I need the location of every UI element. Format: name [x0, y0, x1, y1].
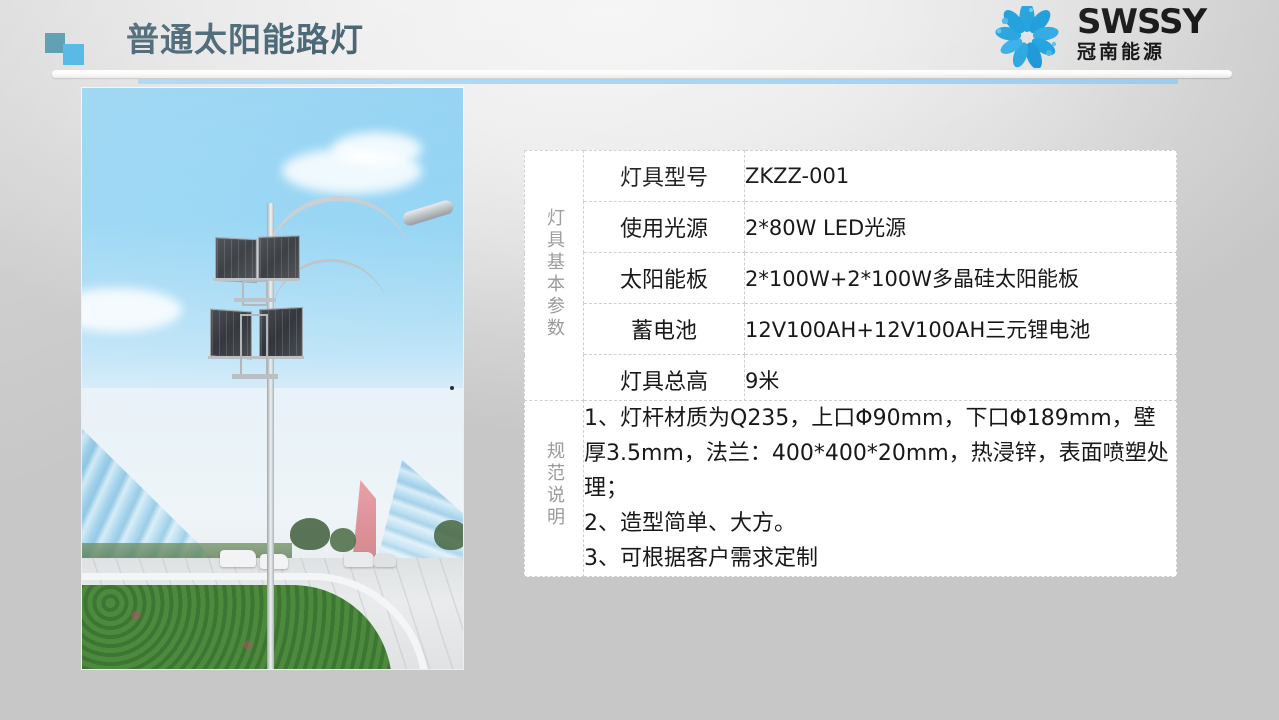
row-key: 太阳能板	[584, 253, 745, 304]
spec-line: 2、造型简单、大方。	[584, 506, 1176, 541]
spec-group-label: 规范说明	[541, 441, 567, 529]
row-value: 12V100AH+12V100AH三元锂电池	[745, 304, 1177, 355]
basic-group-label: 灯具基本参数	[541, 208, 567, 340]
product-photo	[82, 88, 463, 669]
divider-blue-bar	[138, 79, 1178, 84]
row-key: 使用光源	[584, 202, 745, 253]
row-value: 2*100W+2*100W多晶硅太阳能板	[745, 253, 1177, 304]
header-divider	[52, 70, 1232, 84]
table-row: 规范说明 1、灯杆材质为Q235，上口Φ90mm，下口Φ189mm，壁厚3.5m…	[525, 401, 1177, 577]
table-row: 蓄电池 12V100AH+12V100AH三元锂电池	[525, 304, 1177, 355]
specification-body: 规范说明 1、灯杆材质为Q235，上口Φ90mm，下口Φ189mm，壁厚3.5m…	[525, 401, 1177, 577]
cloud-shape	[332, 132, 422, 166]
table-row: 太阳能板 2*100W+2*100W多晶硅太阳能板	[525, 253, 1177, 304]
tree-shape	[290, 518, 330, 550]
table-row: 灯具基本参数 灯具型号 ZKZZ-001	[525, 151, 1177, 202]
spec-group-label-cell: 规范说明	[525, 401, 584, 577]
decor-square-light-icon	[63, 44, 84, 65]
row-key: 蓄电池	[584, 304, 745, 355]
spec-line: 1、灯杆材质为Q235，上口Φ90mm，下口Φ189mm，壁厚3.5mm，法兰：…	[584, 401, 1176, 506]
logo-chinese-name: 冠南能源	[1077, 40, 1253, 64]
car-shape	[220, 550, 256, 567]
basic-parameters-table: 灯具基本参数 灯具型号 ZKZZ-001 使用光源 2*80W LED光源 太阳…	[524, 150, 1177, 406]
car-shape	[260, 554, 288, 569]
panel-rail	[234, 298, 276, 302]
page-title: 普通太阳能路灯	[126, 18, 364, 62]
car-shape	[344, 552, 374, 567]
row-key: 灯具总高	[584, 355, 745, 406]
panel-bracket	[242, 280, 268, 306]
tree-shape	[330, 528, 356, 552]
logo-text-block: SWSSY 冠南能源	[1077, 4, 1253, 68]
row-value: ZKZZ-001	[745, 151, 1177, 202]
panel-support-frame	[240, 314, 268, 378]
slide-header: 普通太阳能路灯	[0, 0, 1279, 88]
row-value: 9米	[745, 355, 1177, 406]
specification-table: 规范说明 1、灯杆材质为Q235，上口Φ90mm，下口Φ189mm，壁厚3.5m…	[524, 400, 1177, 577]
logo-wordmark: SWSSY	[1077, 4, 1253, 40]
row-value: 2*80W LED光源	[745, 202, 1177, 253]
row-key: 灯具型号	[584, 151, 745, 202]
solar-panel-upper-right	[258, 235, 300, 280]
flower-burst-icon	[985, 6, 1069, 68]
basic-parameters-body: 灯具基本参数 灯具型号 ZKZZ-001 使用光源 2*80W LED光源 太阳…	[525, 151, 1177, 406]
table-row: 使用光源 2*80W LED光源	[525, 202, 1177, 253]
basic-group-label-cell: 灯具基本参数	[525, 151, 584, 406]
spec-line: 3、可根据客户需求定制	[584, 541, 1176, 576]
table-row: 灯具总高 9米	[525, 355, 1177, 406]
tree-shape	[434, 520, 463, 550]
solar-panel-upper-left	[215, 237, 257, 283]
divider-white-bar	[52, 70, 1232, 78]
panel-rail	[232, 374, 278, 379]
decor-square-dark-icon	[45, 33, 65, 53]
slide-canvas: 普通太阳能路灯	[0, 0, 1279, 720]
spec-text-cell: 1、灯杆材质为Q235，上口Φ90mm，下口Φ189mm，壁厚3.5mm，法兰：…	[584, 401, 1177, 577]
photo-speck	[450, 386, 454, 390]
company-logo: SWSSY 冠南能源	[985, 4, 1253, 70]
car-shape	[374, 554, 396, 567]
